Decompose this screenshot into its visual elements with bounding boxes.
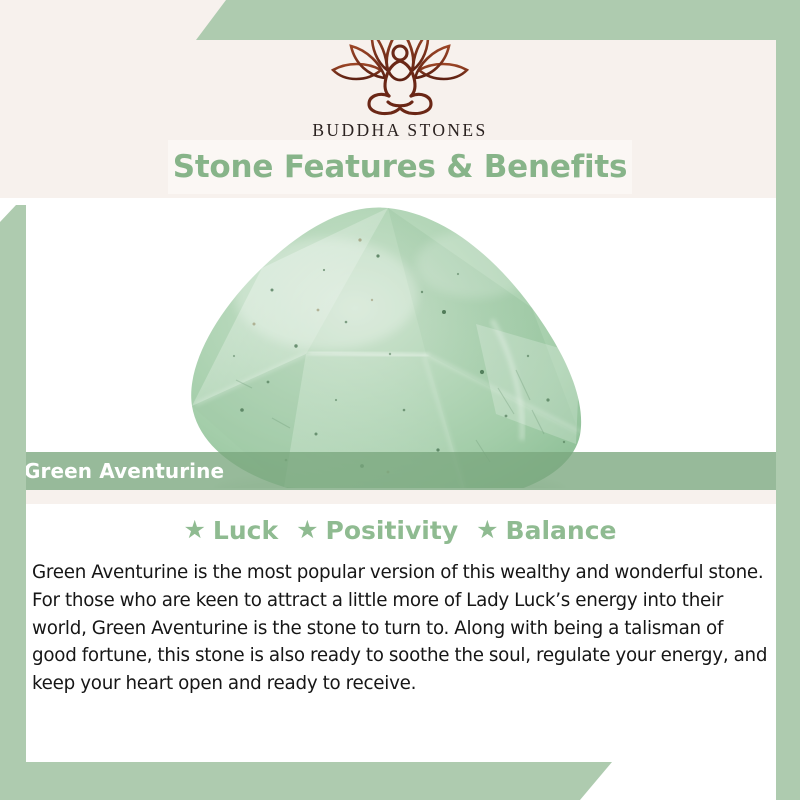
product-photo-area [0,196,800,488]
page-title: Stone Features & Benefits [173,149,628,185]
stone-name-band: Green Aventurine [0,452,800,490]
feature-item: ★ Balance [476,516,616,545]
star-icon: ★ [296,518,318,543]
content-section: ★ Luck ★ Positivity ★ Balance Green Aven… [0,504,800,800]
feature-item: ★ Positivity [296,516,458,545]
brand-name: BUDDHA STONES [0,120,800,141]
infographic-page: BUDDHA STONES Stone Features & Benefits … [0,0,800,800]
lotus-meditation-icon [325,18,475,118]
feature-list: ★ Luck ★ Positivity ★ Balance [0,516,800,545]
section-title-banner: Stone Features & Benefits [168,140,632,194]
star-icon: ★ [476,518,498,543]
cream-divider-strip [0,490,800,504]
feature-label: Luck [213,516,278,545]
feature-label: Positivity [326,516,459,545]
feature-item: ★ Luck [184,516,279,545]
stone-description: Green Aventurine is the most popular ver… [32,559,770,698]
star-icon: ★ [184,518,206,543]
feature-label: Balance [506,516,617,545]
green-aventurine-stone-image [176,204,600,488]
stone-name-label: Green Aventurine [24,459,224,483]
brand-logo: BUDDHA STONES [0,18,800,141]
